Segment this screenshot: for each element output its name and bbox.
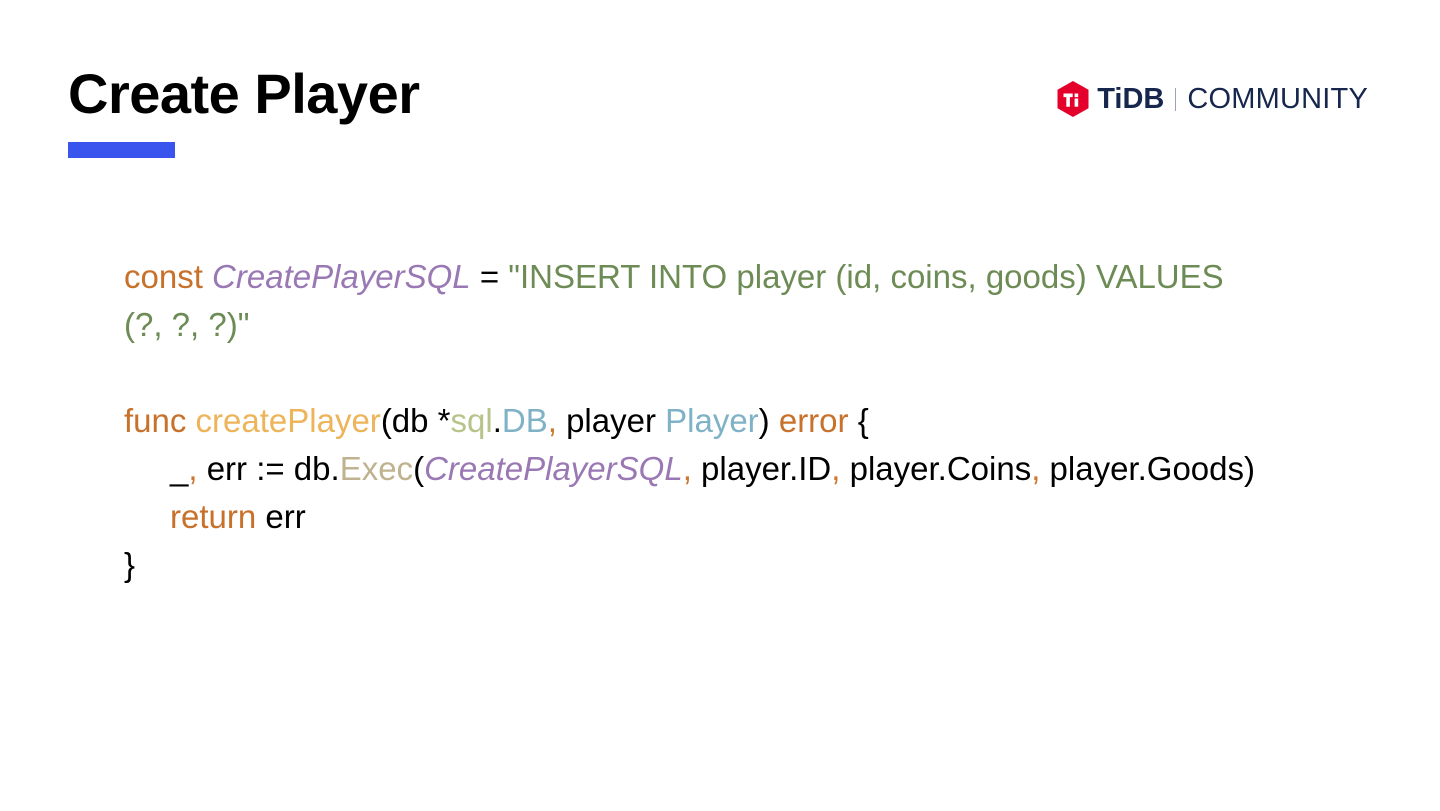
token-equals: = <box>471 258 509 295</box>
title-accent-bar <box>68 142 175 158</box>
brand-name: TiDB <box>1097 85 1164 114</box>
token-brace-close: } <box>124 546 135 583</box>
token-brace-open: { <box>849 402 869 439</box>
token-package-sql: sql <box>451 402 493 439</box>
token-keyword-error: error <box>779 402 849 439</box>
token-comma: , <box>548 402 557 439</box>
token-method-exec: Exec <box>340 450 413 487</box>
token-type-db: DB <box>502 402 548 439</box>
token-function-name: createPlayer <box>196 402 381 439</box>
token-open-paren: ( <box>413 450 424 487</box>
token-space <box>186 402 195 439</box>
token-open-paren: (db * <box>381 402 451 439</box>
code-line-exec: _, err := db.Exec(CreatePlayerSQL, playe… <box>124 445 1264 493</box>
page-title: Create Player <box>68 66 420 122</box>
token-dot: . <box>493 402 502 439</box>
code-blank-line <box>124 349 1264 397</box>
token-arg-player-id: player.ID <box>692 450 831 487</box>
token-keyword-const: const <box>124 258 203 295</box>
code-block: const CreatePlayerSQL = "INSERT INTO pla… <box>124 253 1264 589</box>
brand-subtitle: COMMUNITY <box>1187 85 1368 114</box>
token-close-paren: ) <box>759 402 770 439</box>
token-space <box>203 258 212 295</box>
token-space <box>770 402 779 439</box>
code-line-func-signature: func createPlayer(db *sql.DB, player Pla… <box>124 397 1264 445</box>
code-line-const: const CreatePlayerSQL = "INSERT INTO pla… <box>124 253 1264 349</box>
token-constant-ref: CreatePlayerSQL <box>424 450 683 487</box>
code-line-return: return err <box>124 493 1264 541</box>
brand-divider <box>1175 88 1176 111</box>
token-keyword-func: func <box>124 402 186 439</box>
token-keyword-return: return <box>170 498 256 535</box>
brand-logo: TiDB COMMUNITY <box>1056 79 1368 119</box>
token-comma: , <box>1031 450 1040 487</box>
token-comma: , <box>683 450 692 487</box>
token-constant-name: CreatePlayerSQL <box>212 258 471 295</box>
code-line-close-brace: } <box>124 541 1264 589</box>
token-return-value: err <box>256 498 306 535</box>
token-type-player: Player <box>665 402 759 439</box>
token-param-player: player <box>557 402 665 439</box>
token-arg-player-goods: player.Goods) <box>1040 450 1255 487</box>
token-assignment: err := db. <box>198 450 340 487</box>
tidb-hexagon-logo-icon <box>1056 80 1090 118</box>
token-arg-player-coins: player.Coins <box>840 450 1031 487</box>
slide-header: Create Player TiDB COMMUNITY <box>0 0 1440 180</box>
token-comma: , <box>188 450 197 487</box>
token-blank-identifier: _ <box>170 450 188 487</box>
